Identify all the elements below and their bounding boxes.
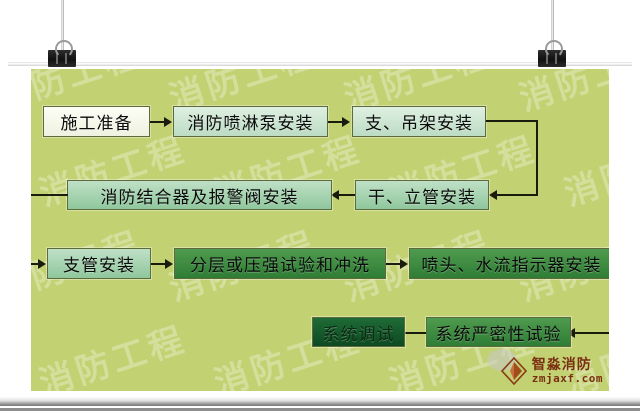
edge-n2-n3-arrowhead: [342, 117, 350, 127]
flowchart-poster: 消防工程消防工程消防工程消防工程消防工程消防工程消防工程消防工程消防工程消防工程…: [31, 69, 609, 391]
edge-n3-n4-seg-h1: [486, 120, 538, 122]
edge-n7-n8-arrowhead: [400, 259, 408, 269]
flow-node-label: 系统调试: [323, 320, 395, 345]
logo-text-block: 智淼消防 zmjaxf.com: [532, 358, 603, 384]
clip-arm-icon: [55, 40, 73, 58]
hanging-rail-assembly: [0, 0, 640, 70]
logo-brand-cn: 智淼消防: [532, 358, 603, 373]
diamond-logo-icon: [501, 357, 527, 385]
flow-node-system-tightness-test[interactable]: 系统严密性试验: [426, 317, 571, 347]
flow-node-label: 支、吊架安装: [365, 109, 473, 134]
flow-node-system-commissioning[interactable]: 系统调试: [312, 317, 405, 347]
flow-node-main-riser-pipe-installation[interactable]: 干、立管安装: [355, 180, 489, 210]
binder-clip-right: [538, 50, 566, 67]
flow-node-label: 消防结合器及报警阀安装: [101, 183, 299, 208]
edge-n1-n2-arrowhead: [164, 117, 172, 127]
flow-node-bracket-hanger-installation[interactable]: 支、吊架安装: [352, 106, 486, 137]
flow-node-label: 喷头、水流指示器安装: [422, 251, 602, 276]
bottom-shelf-shadow: [0, 408, 640, 411]
logo-brand-url: zmjaxf.com: [532, 373, 603, 385]
flow-node-label: 系统严密性试验: [436, 320, 562, 345]
flow-node-construction-preparation[interactable]: 施工准备: [43, 106, 150, 137]
watermark-text: 消防工程: [557, 122, 609, 216]
flow-node-branch-pipe-installation[interactable]: 支管安装: [47, 248, 151, 279]
edge-n3-n4-seg-h2: [497, 194, 538, 196]
watermark-text: 消防工程: [512, 69, 609, 120]
edge-n3-n4-arrowhead: [489, 190, 497, 200]
edge-n8-n9-seg-h2: [575, 332, 609, 334]
edge-n5-n6-arrowhead: [38, 259, 46, 269]
flow-node-label: 施工准备: [61, 109, 133, 134]
flow-node-layered-pressure-test-flushing[interactable]: 分层或压强试验和冲洗: [174, 248, 386, 279]
edge-n3-n4-seg-v: [536, 120, 538, 195]
flow-node-label: 支管安装: [63, 251, 135, 276]
brand-logo[interactable]: 智淼消防 zmjaxf.com: [501, 357, 603, 385]
clip-arm-icon: [545, 40, 563, 58]
binder-clip-left: [48, 50, 76, 67]
edge-n4-n5-arrowhead: [331, 190, 339, 200]
bottom-shelf: [0, 397, 640, 406]
edge-n6-n7-arrowhead: [165, 259, 173, 269]
flow-node-label: 消防喷淋泵安装: [188, 109, 314, 134]
flow-node-sprinkler-head-flow-indicator-installation[interactable]: 喷头、水流指示器安装: [409, 248, 609, 279]
flow-node-label: 分层或压强试验和冲洗: [190, 251, 370, 276]
flow-node-siamese-connector-alarm-valve-installation[interactable]: 消防结合器及报警阀安装: [67, 180, 332, 210]
watermark-text: 消防工程: [32, 312, 192, 391]
flow-node-label: 干、立管安装: [368, 183, 476, 208]
flow-node-sprinkler-pump-installation[interactable]: 消防喷淋泵安装: [173, 106, 328, 137]
edge-n5-n6-seg-h1: [31, 194, 68, 196]
